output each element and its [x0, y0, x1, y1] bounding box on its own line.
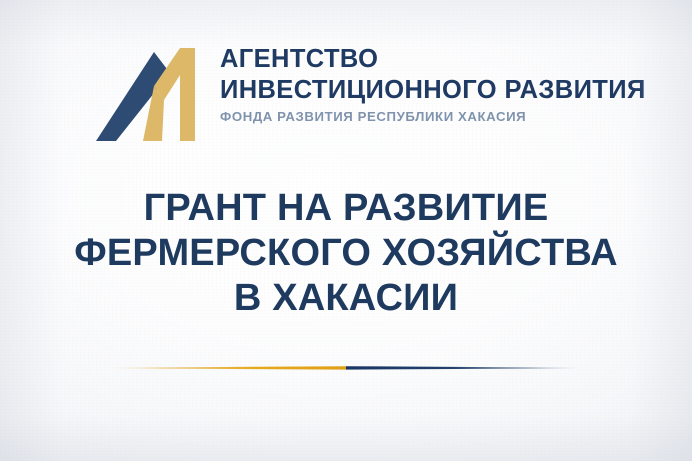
- decorative-divider: [112, 360, 580, 376]
- promo-banner: АГЕНТСТВО ИНВЕСТИЦИОННОГО РАЗВИТИЯ ФОНДА…: [0, 0, 692, 461]
- headline-line-2: ФЕРМЕРСКОГО ХОЗЯЙСТВА: [0, 231, 692, 276]
- agency-a-monogram-icon: [96, 42, 208, 144]
- headline-line-3: В ХАКАСИИ: [0, 276, 692, 321]
- headline-line-1: ГРАНТ НА РАЗВИТИЕ: [0, 186, 692, 231]
- org-name-line-2: ИНВЕСТИЦИОННОГО РАЗВИТИЯ: [220, 77, 646, 103]
- logo-wordmark: АГЕНТСТВО ИНВЕСТИЦИОННОГО РАЗВИТИЯ ФОНДА…: [220, 42, 646, 125]
- org-name-line-3: ФОНДА РАЗВИТИЯ РЕСПУБЛИКИ ХАКАСИЯ: [220, 110, 646, 125]
- logo-lockup: АГЕНТСТВО ИНВЕСТИЦИОННОГО РАЗВИТИЯ ФОНДА…: [96, 42, 596, 146]
- headline: ГРАНТ НА РАЗВИТИЕ ФЕРМЕРСКОГО ХОЗЯЙСТВА …: [0, 186, 692, 321]
- org-name-line-1: АГЕНТСТВО: [220, 46, 646, 72]
